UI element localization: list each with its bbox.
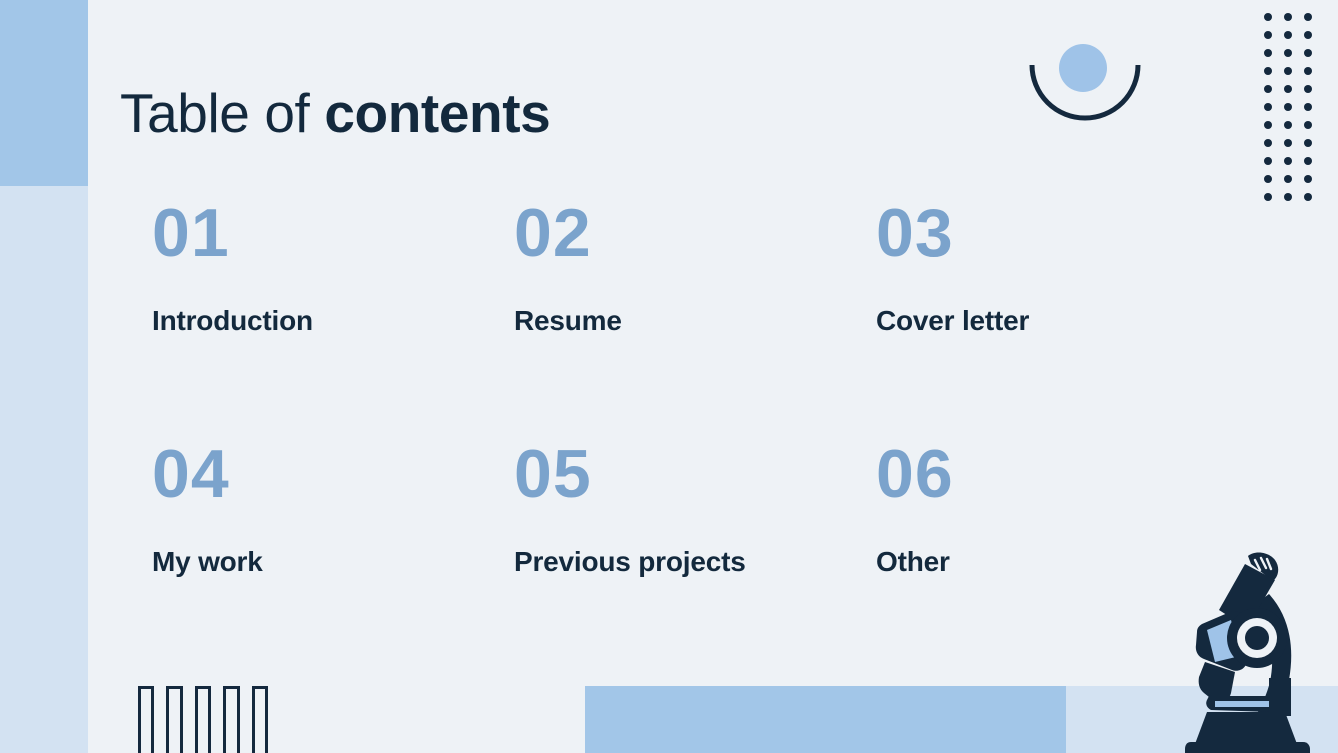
test-tubes-decoration (138, 686, 268, 753)
dot (1284, 139, 1292, 147)
toc-label: My work (152, 545, 514, 579)
toc-entry-05[interactable]: 05 Previous projects (514, 437, 876, 579)
dot (1304, 103, 1312, 111)
dot (1284, 85, 1292, 93)
test-tube-icon (138, 686, 154, 753)
page-title-bold: contents (324, 82, 550, 144)
dot (1304, 193, 1312, 201)
toc-label: Other (876, 545, 1162, 579)
toc-label: Introduction (152, 304, 514, 338)
dot (1264, 175, 1272, 183)
dot (1264, 67, 1272, 75)
dot (1304, 139, 1312, 147)
motif-circle-icon (1059, 44, 1107, 92)
slide-table-of-contents: Table of contents 01 Introduction 02 Res… (0, 0, 1338, 753)
dot (1264, 121, 1272, 129)
dot (1284, 193, 1292, 201)
dot (1284, 175, 1292, 183)
left-accent-band-top (0, 0, 88, 186)
test-tube-icon (252, 686, 268, 753)
dot (1264, 157, 1272, 165)
dot (1304, 49, 1312, 57)
dot (1284, 31, 1292, 39)
dot (1264, 13, 1272, 21)
microscope-illustration (1185, 550, 1310, 753)
toc-number: 03 (876, 196, 1162, 270)
toc-number: 02 (514, 196, 876, 270)
toc-entry-04[interactable]: 04 My work (152, 437, 514, 579)
test-tube-icon (195, 686, 211, 753)
dot (1304, 85, 1312, 93)
toc-number: 01 (152, 196, 514, 270)
dot (1304, 121, 1312, 129)
toc-number: 04 (152, 437, 514, 511)
bottom-accent-band-center (585, 686, 1066, 753)
dot (1304, 157, 1312, 165)
toc-number: 06 (876, 437, 1162, 511)
toc-number: 05 (514, 437, 876, 511)
toc-entry-06[interactable]: 06 Other (876, 437, 1162, 579)
dot (1264, 139, 1272, 147)
dot (1264, 193, 1272, 201)
page-title-light: Table of (120, 82, 324, 144)
dot (1264, 49, 1272, 57)
circle-arc-motif (1027, 40, 1147, 130)
dot-grid-decoration (1264, 13, 1324, 211)
dot (1304, 175, 1312, 183)
left-accent-band-bottom (0, 186, 88, 753)
dot (1304, 13, 1312, 21)
dot (1284, 49, 1292, 57)
test-tube-icon (166, 686, 182, 753)
dot (1264, 31, 1272, 39)
test-tube-icon (223, 686, 239, 753)
dot (1304, 67, 1312, 75)
table-of-contents-grid: 01 Introduction 02 Resume 03 Cover lette… (152, 196, 1162, 579)
page-title: Table of contents (120, 79, 550, 147)
toc-label: Previous projects (514, 545, 876, 579)
microscope-icon (1185, 553, 1310, 753)
dot (1284, 157, 1292, 165)
dot (1284, 121, 1292, 129)
dot (1264, 85, 1272, 93)
toc-label: Cover letter (876, 304, 1162, 338)
dot (1284, 13, 1292, 21)
dot (1304, 31, 1312, 39)
dot (1284, 67, 1292, 75)
dot (1264, 103, 1272, 111)
dot (1284, 103, 1292, 111)
toc-label: Resume (514, 304, 876, 338)
toc-entry-02[interactable]: 02 Resume (514, 196, 876, 437)
toc-entry-03[interactable]: 03 Cover letter (876, 196, 1162, 437)
toc-entry-01[interactable]: 01 Introduction (152, 196, 514, 437)
